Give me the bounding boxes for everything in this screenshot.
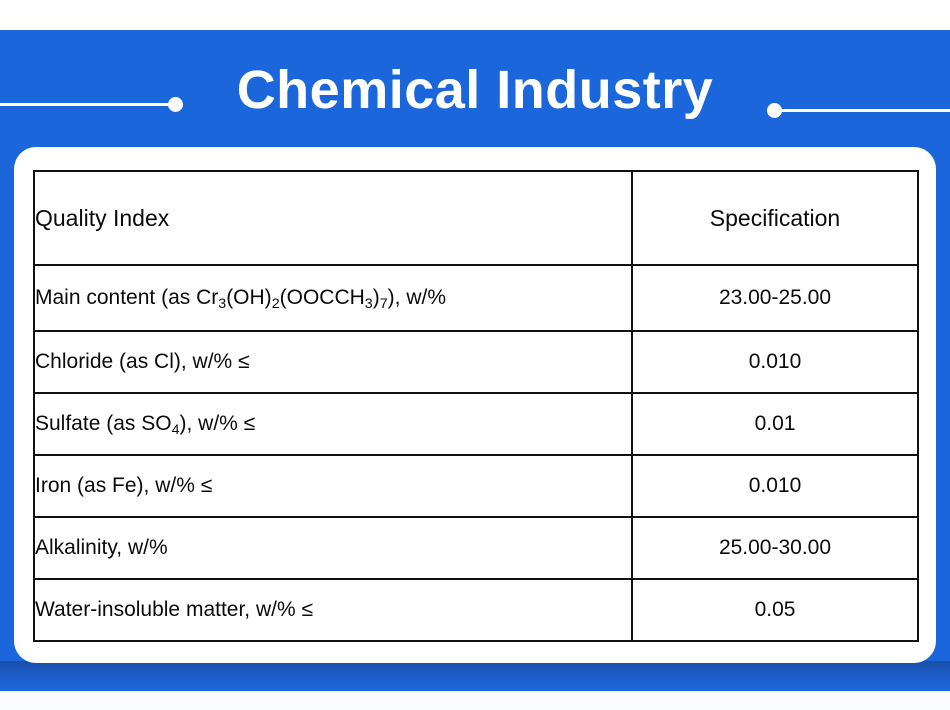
cell-quality-index: Sulfate (as SO4), w/% ≤ <box>34 393 632 455</box>
cell-quality-index: Iron (as Fe), w/% ≤ <box>34 455 632 517</box>
table-row: Sulfate (as SO4), w/% ≤ 0.01 <box>34 393 918 455</box>
bottom-gradient-band <box>0 661 950 691</box>
specification-table: Quality Index Specification Main content… <box>33 170 919 642</box>
cell-specification: 23.00-25.00 <box>632 265 918 331</box>
table-row: Alkalinity, w/% 25.00-30.00 <box>34 517 918 579</box>
cell-specification: 25.00-30.00 <box>632 517 918 579</box>
bottom-white-strip <box>0 691 950 710</box>
cell-specification: 0.01 <box>632 393 918 455</box>
cell-quality-index: Water-insoluble matter, w/% ≤ <box>34 579 632 641</box>
table-row: Chloride (as Cl), w/% ≤ 0.010 <box>34 331 918 393</box>
cell-quality-index: Main content (as Cr3(OH)2(OOCCH3)7), w/% <box>34 265 632 331</box>
cell-specification: 0.05 <box>632 579 918 641</box>
decorative-line-right <box>779 109 950 112</box>
table-row: Main content (as Cr3(OH)2(OOCCH3)7), w/%… <box>34 265 918 331</box>
cell-quality-index: Alkalinity, w/% <box>34 517 632 579</box>
cell-specification: 0.010 <box>632 455 918 517</box>
page-root: Chemical Industry Quality Index Specific… <box>0 0 950 710</box>
cell-quality-index: Chloride (as Cl), w/% ≤ <box>34 331 632 393</box>
table-row: Water-insoluble matter, w/% ≤ 0.05 <box>34 579 918 641</box>
column-header-specification: Specification <box>632 171 918 265</box>
table-row: Iron (as Fe), w/% ≤ 0.010 <box>34 455 918 517</box>
table-header-row: Quality Index Specification <box>34 171 918 265</box>
cell-specification: 0.010 <box>632 331 918 393</box>
column-header-quality-index: Quality Index <box>34 171 632 265</box>
spec-card: Quality Index Specification Main content… <box>14 147 936 663</box>
